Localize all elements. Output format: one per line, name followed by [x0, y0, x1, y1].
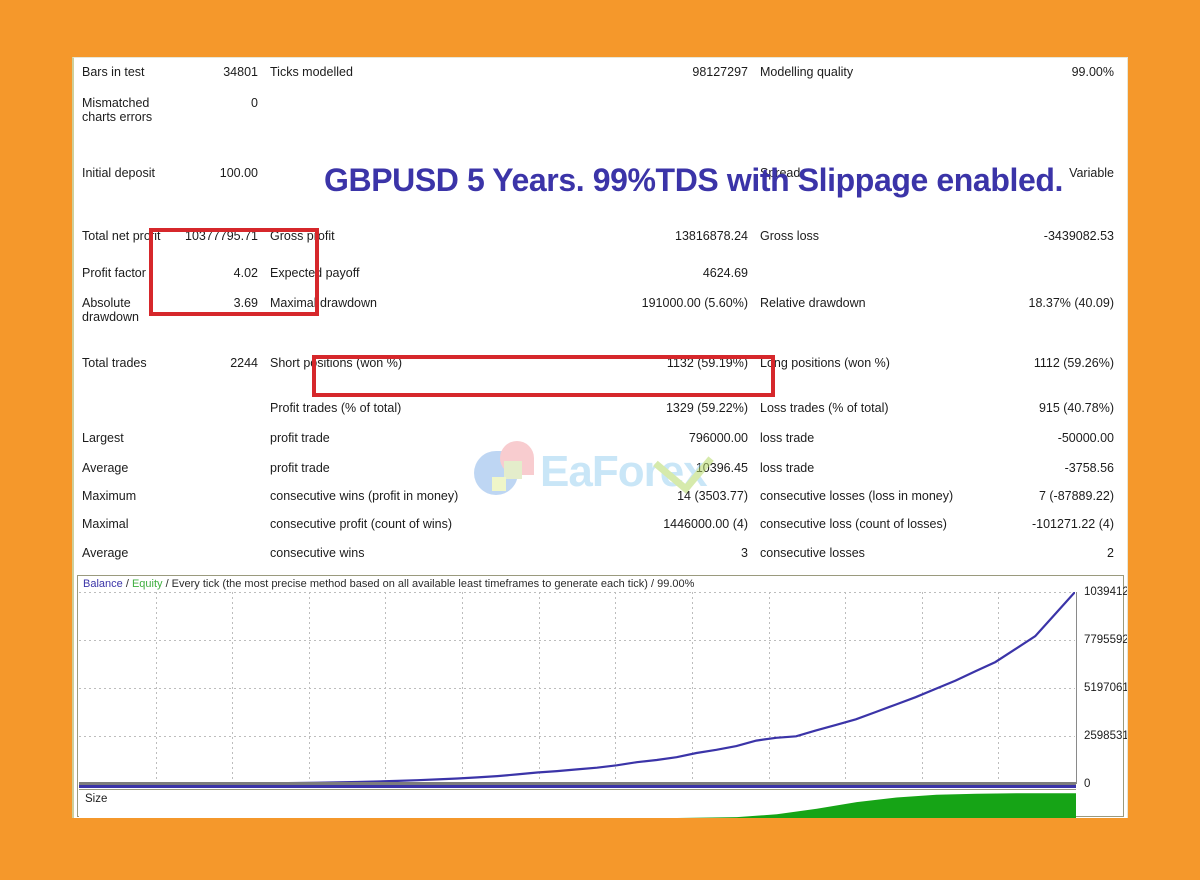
stats-label-1: Largest — [74, 431, 174, 445]
stats-value-1: 100.00 — [174, 166, 262, 180]
balance-equity-chart: Balance / Equity / Every tick (the most … — [77, 575, 1124, 817]
page-title: GBPUSD 5 Years. 99%TDS with Slippage ena… — [324, 162, 1063, 199]
stats-value-2: 10396.45 — [562, 461, 752, 475]
stats-label-1: Profit factor — [74, 266, 174, 280]
stats-row: Total net profit10377795.71Gross profit1… — [74, 229, 1127, 243]
stats-value-1: 2244 — [174, 356, 262, 370]
legend-sep: / — [123, 578, 132, 590]
stats-row: Averageconsecutive wins3consecutive loss… — [74, 546, 1127, 560]
stats-value-2: 13816878.24 — [562, 229, 752, 243]
chart-plot-area — [79, 592, 1075, 784]
stats-row: Profit factor4.02Expected payoff4624.69 — [74, 266, 1127, 280]
stats-label-3: Loss trades (% of total) — [752, 401, 962, 415]
stats-value-2: 3 — [562, 546, 752, 560]
screenshot-root: GBPUSD 5 Years. 99%TDS with Slippage ena… — [0, 0, 1200, 880]
stats-value-3: 2 — [962, 546, 1122, 560]
stats-value-2: 796000.00 — [562, 431, 752, 445]
stats-row: Absolute drawdown3.69Maximal drawdown191… — [74, 296, 1127, 324]
stats-value-1: 10377795.71 — [174, 229, 262, 243]
stats-row: Maximalconsecutive profit (count of wins… — [74, 517, 1127, 531]
stats-value-2: 1446000.00 (4) — [562, 517, 752, 531]
stats-value-3: 915 (40.78%) — [962, 401, 1122, 415]
stats-label-1: Total trades — [74, 356, 174, 370]
stats-label-2: consecutive wins (profit in money) — [262, 489, 562, 503]
stats-value-3: 7 (-87889.22) — [962, 489, 1122, 503]
stats-row: Mismatched charts errors0 — [74, 96, 1127, 124]
stats-label-3: Gross loss — [752, 229, 962, 243]
stats-value-3: -3439082.53 — [962, 229, 1122, 243]
chart-gridlines — [79, 592, 1075, 784]
stats-label-2: Short positions (won %) — [262, 356, 562, 370]
stats-row: Maximumconsecutive wins (profit in money… — [74, 489, 1127, 503]
legend-balance: Balance — [83, 578, 123, 590]
size-label: Size — [85, 793, 107, 805]
stats-label-2: consecutive wins — [262, 546, 562, 560]
chart-y-axis: 103941237795592519706125985310 — [1078, 592, 1124, 792]
stats-label-3: consecutive losses (loss in money) — [752, 489, 962, 503]
chart-legend: Balance / Equity / Every tick (the most … — [83, 578, 694, 590]
stats-value-3: 1112 (59.26%) — [962, 356, 1122, 370]
stats-label-1: Maximal — [74, 517, 174, 531]
stats-label-1: Average — [74, 546, 174, 560]
stats-row: Profit trades (% of total)1329 (59.22%)L… — [74, 401, 1127, 415]
stats-value-2: 14 (3503.77) — [562, 489, 752, 503]
stats-value-3: -101271.22 (4) — [962, 517, 1122, 531]
stats-value-2: 98127297 — [562, 65, 752, 79]
stats-value-2: 1329 (59.22%) — [562, 401, 752, 415]
stats-row: Bars in test34801Ticks modelled98127297M… — [74, 65, 1127, 79]
stats-value-1: 3.69 — [174, 296, 262, 310]
chart-y-tick-label: 7795592 — [1084, 634, 1128, 646]
stats-label-1: Mismatched charts errors — [74, 96, 174, 124]
stats-label-2: Ticks modelled — [262, 65, 562, 79]
stats-label-3: consecutive losses — [752, 546, 962, 560]
legend-description: / Every tick (the most precise method ba… — [163, 578, 695, 590]
stats-label-1: Bars in test — [74, 65, 174, 79]
stats-value-3: -50000.00 — [962, 431, 1122, 445]
size-area — [79, 793, 1076, 818]
stats-label-2: consecutive profit (count of wins) — [262, 517, 562, 531]
chart-svg — [79, 592, 1075, 784]
stats-label-1: Average — [74, 461, 174, 475]
chart-baseline-navy — [79, 785, 1076, 788]
stats-row: Averageprofit trade10396.45loss trade-37… — [74, 461, 1127, 475]
stats-label-2: profit trade — [262, 431, 562, 445]
stats-label-2: profit trade — [262, 461, 562, 475]
stats-label-1: Maximum — [74, 489, 174, 503]
stats-label-3: Long positions (won %) — [752, 356, 962, 370]
legend-equity: Equity — [132, 578, 163, 590]
size-bars-area — [79, 790, 1076, 818]
stats-label-3: loss trade — [752, 461, 962, 475]
stats-label-2: Expected payoff — [262, 266, 562, 280]
stats-row: Total trades2244Short positions (won %)1… — [74, 356, 1127, 370]
stats-label-3: Relative drawdown — [752, 296, 962, 310]
stats-value-1: 0 — [174, 96, 262, 110]
stats-value-2: 4624.69 — [562, 266, 752, 280]
stats-value-2: 1132 (59.19%) — [562, 356, 752, 370]
stats-value-1: 4.02 — [174, 266, 262, 280]
stats-label-1: Initial deposit — [74, 166, 174, 180]
stats-value-3: 18.37% (40.09) — [962, 296, 1122, 310]
stats-label-2: Maximal drawdown — [262, 296, 562, 310]
stats-label-2: Gross profit — [262, 229, 562, 243]
stats-value-1: 34801 — [174, 65, 262, 79]
chart-y-axis-line — [1076, 592, 1077, 784]
stats-label-3: consecutive loss (count of losses) — [752, 517, 962, 531]
size-subchart: Size — [79, 789, 1076, 818]
stats-value-3: -3758.56 — [962, 461, 1122, 475]
chart-y-tick-label: 2598531 — [1084, 730, 1128, 742]
chart-y-tick-label: 0 — [1084, 778, 1090, 790]
stats-label-1: Absolute drawdown — [74, 296, 174, 324]
stats-label-1: Total net profit — [74, 229, 174, 243]
stats-row: Largestprofit trade796000.00loss trade-5… — [74, 431, 1127, 445]
stats-label-3: loss trade — [752, 431, 962, 445]
stats-label-2: Profit trades (% of total) — [262, 401, 562, 415]
stats-value-3: 99.00% — [962, 65, 1122, 79]
stats-label-3: Modelling quality — [752, 65, 962, 79]
size-svg — [79, 790, 1076, 818]
chart-y-tick-label: 10394123 — [1084, 586, 1128, 598]
chart-y-tick-label: 5197061 — [1084, 682, 1128, 694]
strategy-tester-report: GBPUSD 5 Years. 99%TDS with Slippage ena… — [72, 57, 1128, 818]
stats-value-2: 191000.00 (5.60%) — [562, 296, 752, 310]
